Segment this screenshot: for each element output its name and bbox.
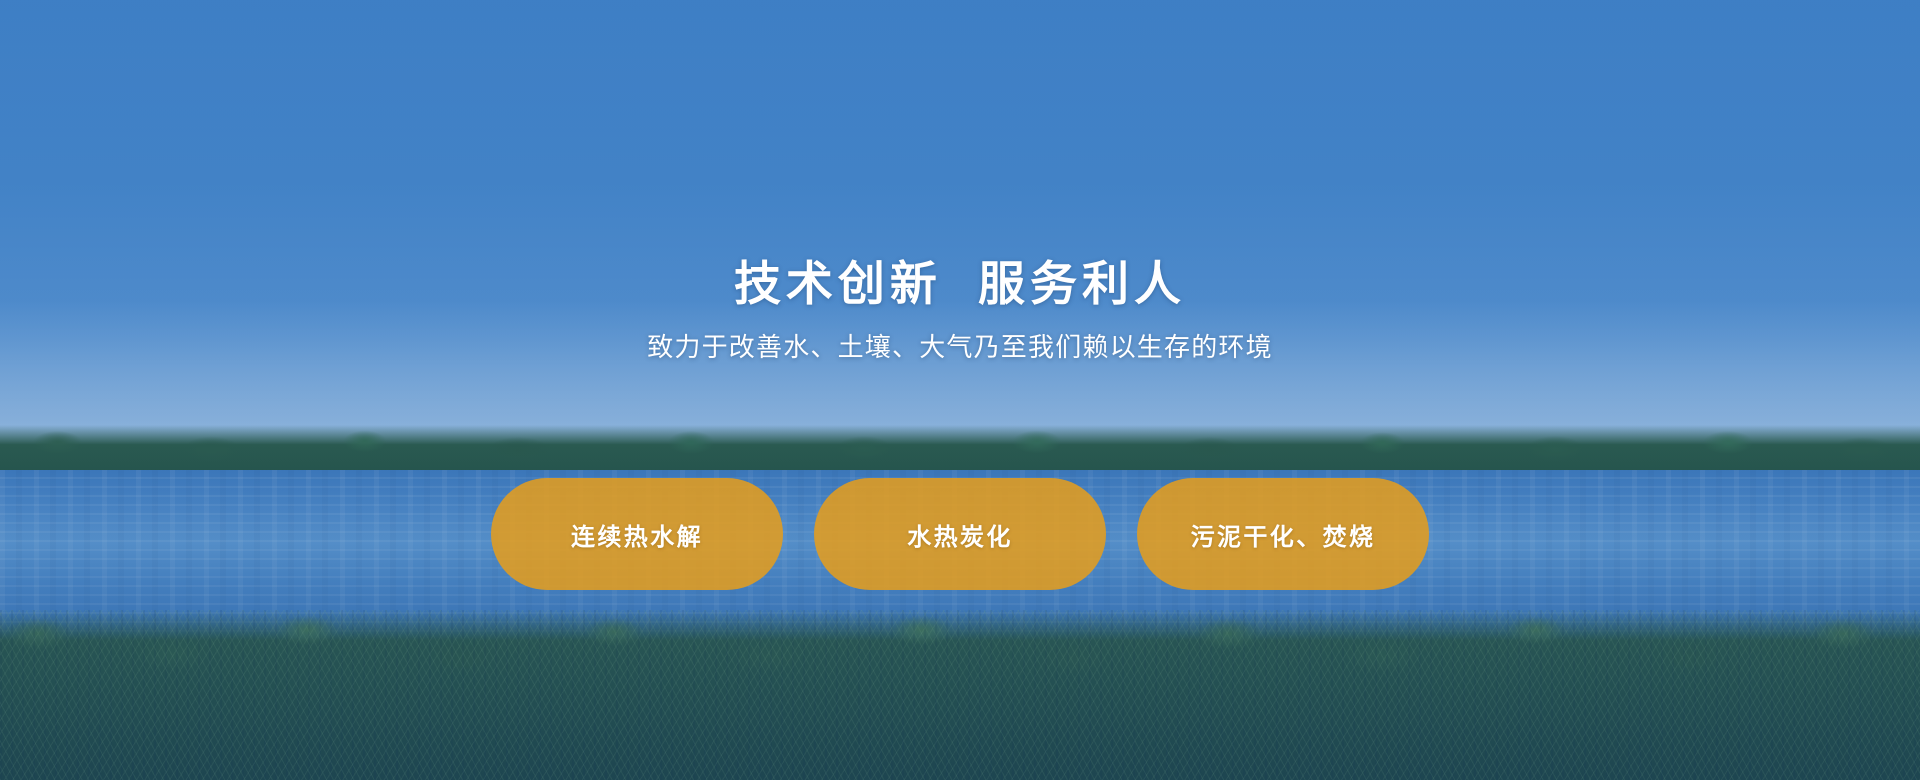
page-subtitle: 致力于改善水、土壤、大气乃至我们赖以生存的环境 — [647, 331, 1273, 365]
service-pill-hydrothermal-carbonization[interactable]: 水热炭化 — [814, 478, 1106, 590]
service-pill-hydrothermal-hydrolysis[interactable]: 连续热水解 — [491, 478, 783, 590]
service-pill-sludge-drying-incineration[interactable]: 污泥干化、焚烧 — [1137, 478, 1429, 590]
hero-copy: 技术创新 服务利人 致力于改善水、土壤、大气乃至我们赖以生存的环境 — [0, 0, 1920, 780]
service-pill-group: 连续热水解 水热炭化 污泥干化、焚烧 — [0, 478, 1920, 590]
hero-banner: 技术创新 服务利人 致力于改善水、土壤、大气乃至我们赖以生存的环境 连续热水解 … — [0, 0, 1920, 780]
page-title: 技术创新 服务利人 — [734, 258, 1186, 310]
